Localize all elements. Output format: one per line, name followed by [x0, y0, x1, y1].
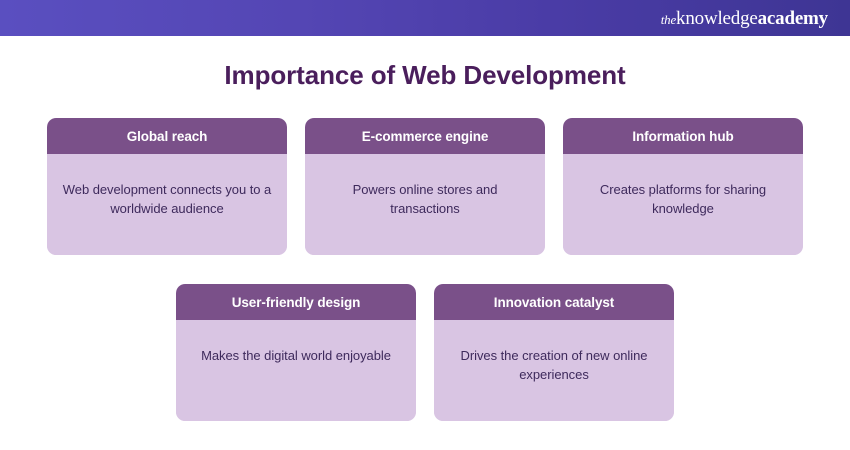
card-body-text: Creates platforms for sharing knowledge [577, 180, 789, 218]
card-body-text: Web development connects you to a worldw… [61, 180, 273, 218]
card-heading: Innovation catalyst [434, 284, 674, 320]
card-ecommerce-engine: E-commerce engine Powers online stores a… [305, 118, 545, 255]
card-heading: User-friendly design [176, 284, 416, 320]
card-global-reach: Global reach Web development connects yo… [47, 118, 287, 255]
logo-prefix-text: the [661, 12, 676, 27]
card-body: Web development connects you to a worldw… [47, 154, 287, 255]
card-body: Makes the digital world enjoyable [176, 320, 416, 421]
card-row-bottom: User-friendly design Makes the digital w… [176, 284, 674, 421]
card-user-friendly-design: User-friendly design Makes the digital w… [176, 284, 416, 421]
card-body: Powers online stores and transactions [305, 154, 545, 255]
brand-banner: theknowledgeacademy [0, 0, 850, 36]
card-body-text: Makes the digital world enjoyable [201, 346, 391, 365]
card-body-text: Drives the creation of new online experi… [448, 346, 660, 384]
logo-middle-text: knowledge [676, 8, 758, 29]
card-heading: E-commerce engine [305, 118, 545, 154]
card-row-top: Global reach Web development connects yo… [47, 118, 803, 255]
knowledge-academy-logo: theknowledgeacademy [661, 9, 828, 28]
card-innovation-catalyst: Innovation catalyst Drives the creation … [434, 284, 674, 421]
page-title: Importance of Web Development [0, 58, 850, 92]
card-heading: Global reach [47, 118, 287, 154]
card-heading: Information hub [563, 118, 803, 154]
card-information-hub: Information hub Creates platforms for sh… [563, 118, 803, 255]
card-body: Creates platforms for sharing knowledge [563, 154, 803, 255]
card-body-text: Powers online stores and transactions [319, 180, 531, 218]
logo-suffix-text: academy [758, 8, 828, 29]
card-body: Drives the creation of new online experi… [434, 320, 674, 421]
